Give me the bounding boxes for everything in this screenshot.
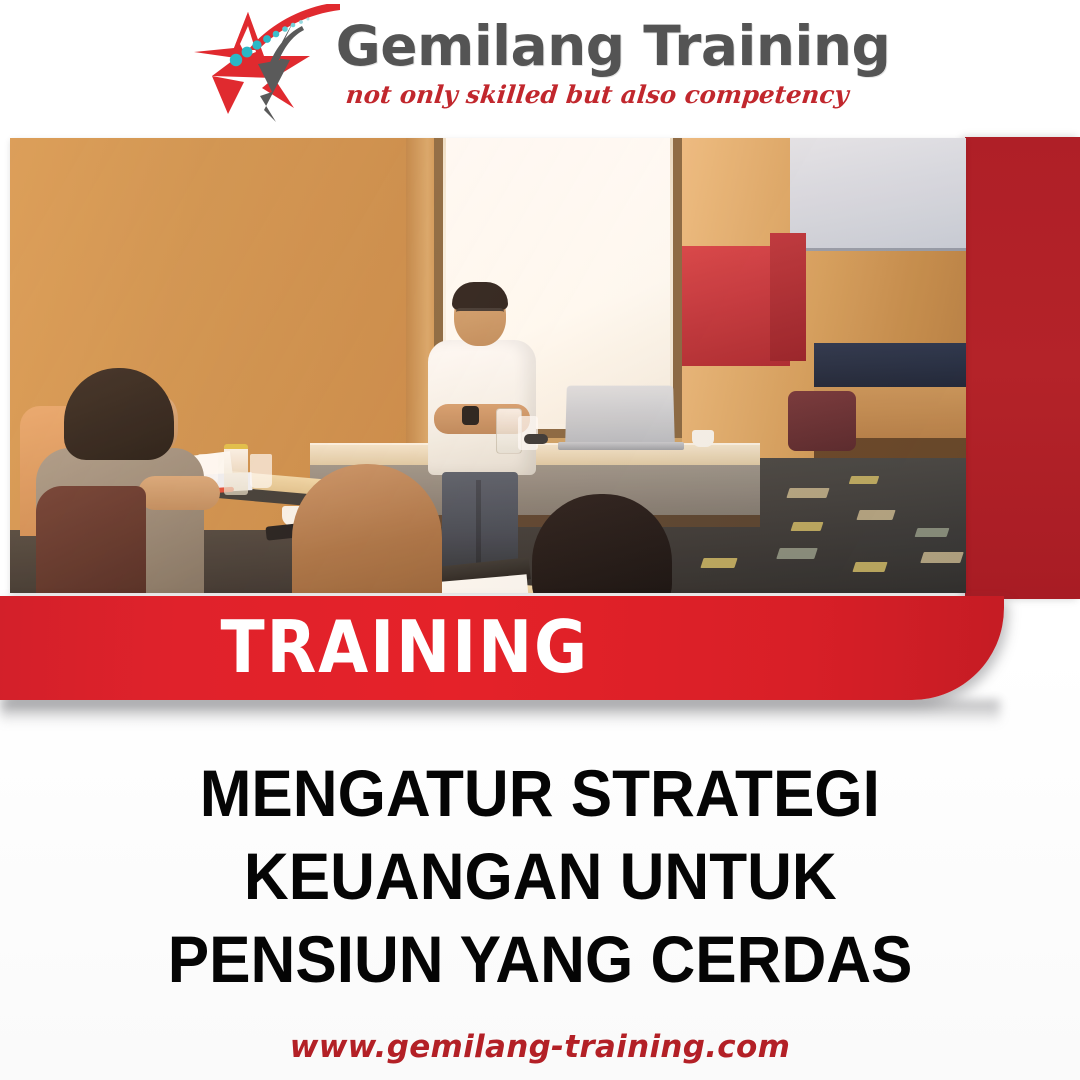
photo-scene: April 23rd 2024 <box>10 138 966 593</box>
title-line-1: MENGATUR STRATEGI <box>200 752 880 835</box>
title-line-2: KEUANGAN UNTUK <box>244 835 837 918</box>
eyeglasses <box>456 308 504 322</box>
computer-mouse <box>524 434 548 444</box>
projector-screen <box>790 138 966 251</box>
participant-foreground-right <box>488 494 718 593</box>
brand-tagline: not only skilled but also competency <box>344 83 891 108</box>
banner-shadow <box>0 700 1000 724</box>
brand-wordmark: Gemilang Training not only skilled but a… <box>336 19 891 114</box>
laptop-base <box>558 442 684 450</box>
star-lightning-swoosh-icon <box>190 4 340 129</box>
wall-dark-trim <box>814 343 966 387</box>
website-url[interactable]: www.gemilang-training.com <box>0 1029 1080 1065</box>
brand-name: Gemilang Training <box>336 19 891 74</box>
wristwatch <box>462 406 479 425</box>
training-poster: Gemilang Training not only skilled but a… <box>0 0 1080 1080</box>
red-wall-panel-2 <box>770 233 806 361</box>
training-banner: TRAINING <box>0 596 1004 700</box>
title-line-3: PENSIUN YANG CERDAS <box>168 918 913 1001</box>
right-red-panel <box>965 137 1080 599</box>
brand-logo-lockup: Gemilang Training not only skilled but a… <box>190 4 891 129</box>
participant-foreground-center <box>264 464 484 593</box>
coffee-cup <box>692 430 714 447</box>
water-glass <box>518 416 538 450</box>
training-classroom-photo: April 23rd 2024 <box>10 138 966 593</box>
poster-title-block: MENGATUR STRATEGI KEUANGAN UNTUK PENSIUN… <box>0 752 1080 1001</box>
presenter-laptop <box>565 386 675 446</box>
banner-title: TRAINING <box>220 611 589 683</box>
participant-chair <box>36 486 146 593</box>
poster-header: Gemilang Training not only skilled but a… <box>0 0 1080 132</box>
empty-chair <box>788 391 856 451</box>
